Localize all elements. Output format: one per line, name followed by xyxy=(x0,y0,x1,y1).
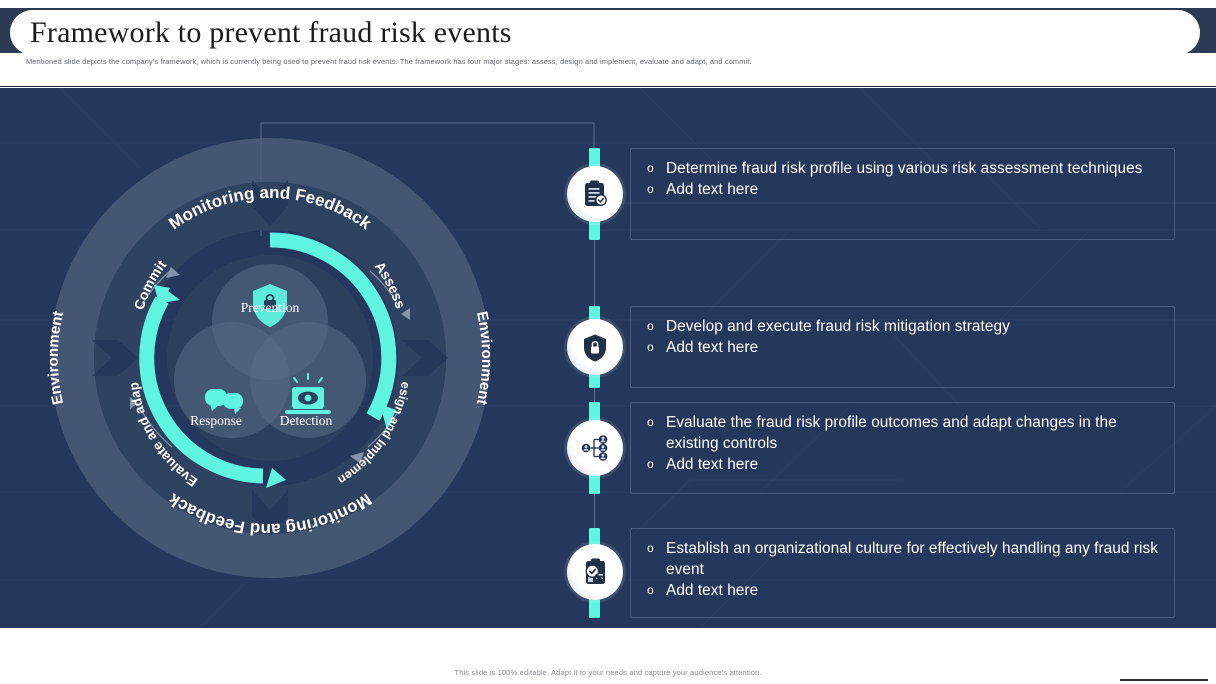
clipboard-check-icon xyxy=(580,179,610,209)
core-label-detection: Detection xyxy=(280,413,333,428)
bullet: Add text here xyxy=(647,337,1164,358)
core-label-response: Response xyxy=(190,413,242,428)
content-box-2[interactable]: Develop and execute fraud risk mitigatio… xyxy=(630,306,1175,388)
bullet: Develop and execute fraud risk mitigatio… xyxy=(647,316,1164,337)
bullet: Establish an organizational culture for … xyxy=(647,538,1164,580)
bullet: Determine fraud risk profile using vario… xyxy=(647,158,1164,179)
title-pill: Framework to prevent fraud risk events xyxy=(10,10,1200,55)
bullet: Add text here xyxy=(647,454,1164,475)
bullet-list-2: Develop and execute fraud risk mitigatio… xyxy=(647,316,1164,358)
shield-lock-icon xyxy=(580,332,610,362)
bubble-clipboard-magnifier[interactable] xyxy=(567,544,623,600)
bullet: Evaluate the fraud risk profile outcomes… xyxy=(647,412,1164,454)
bullet-list-4: Establish an organizational culture for … xyxy=(647,538,1164,601)
bullet-list-3: Evaluate the fraud risk profile outcomes… xyxy=(647,412,1164,475)
bullet: Add text here xyxy=(647,580,1164,601)
timeline: Determine fraud risk profile using vario… xyxy=(560,88,1200,628)
header-divider xyxy=(0,86,1216,87)
bullet: Add text here xyxy=(647,179,1164,200)
slide-root: Framework to prevent fraud risk events M… xyxy=(0,0,1216,684)
bubble-org-chart[interactable] xyxy=(567,420,623,476)
corner-rule xyxy=(1120,679,1208,681)
main-panel: Prevention Response Detection Monitoring… xyxy=(0,88,1216,628)
framework-wheel: Prevention Response Detection Monitoring… xyxy=(20,108,520,608)
content-box-3[interactable]: Evaluate the fraud risk profile outcomes… xyxy=(630,402,1175,494)
page-subtitle: Mentioned slide depicts the company's fr… xyxy=(26,57,1156,66)
core-label-prevention: Prevention xyxy=(241,300,300,315)
bubble-clipboard-check[interactable] xyxy=(567,166,623,222)
page-title: Framework to prevent fraud risk events xyxy=(10,18,512,48)
content-box-1[interactable]: Determine fraud risk profile using vario… xyxy=(630,148,1175,240)
org-chart-icon xyxy=(580,433,610,463)
content-box-4[interactable]: Establish an organizational culture for … xyxy=(630,528,1175,618)
bullet-list-1: Determine fraud risk profile using vario… xyxy=(647,158,1164,200)
footer-note: This slide is 100% editable. Adapt it to… xyxy=(0,668,1216,677)
clipboard-magnifier-icon xyxy=(580,557,610,587)
bubble-shield-lock[interactable] xyxy=(567,319,623,375)
